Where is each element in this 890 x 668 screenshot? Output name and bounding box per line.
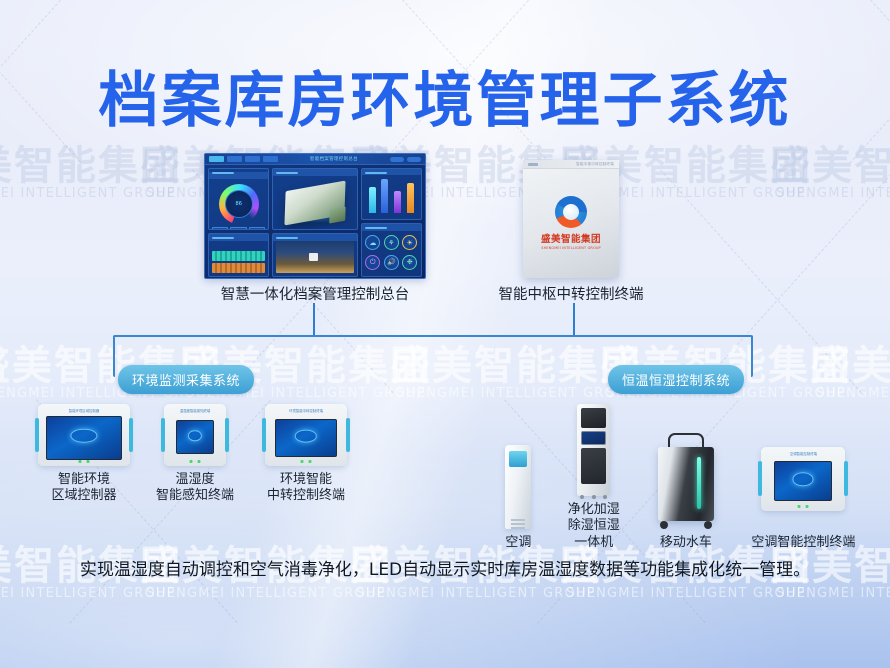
gauge-value: 86 [209, 184, 268, 224]
group-label-climate[interactable]: 恒温恒湿控制系统 [608, 365, 744, 394]
console-screen-body: 86 [205, 165, 425, 279]
stat-card [249, 227, 265, 231]
device-screen [176, 420, 214, 454]
side-tab-icon [346, 418, 350, 453]
air-conditioner-icon[interactable]: ☁ [365, 235, 380, 250]
watermark-en: SHENGMEI INTELLIGENT GROUP [770, 587, 890, 601]
device-row-climate: 空调 净化加湿 除湿恒湿 一体机 移动水车 空调智能控制终端 [488, 396, 870, 551]
hub-header-strip: 智能中枢中转控制终端 [523, 160, 619, 169]
console-controls-panel: ☁ ⚘ ☀ ⏻ 🔊 ❉ [361, 223, 422, 277]
console-device[interactable]: 智能档案管理控制总台 86 [204, 153, 426, 279]
device-art: 环境智能中转控制终端 [265, 404, 347, 466]
device-air-conditioner[interactable]: 空调 [488, 429, 549, 551]
console-tab [263, 156, 278, 162]
water-cart [654, 433, 718, 529]
console-tab [245, 156, 260, 162]
device-art: 智能环境区域控制器 [38, 404, 130, 466]
hub-indicator [528, 163, 538, 166]
led-indicators [798, 505, 809, 508]
device-screen-title: 空调智能控制终端 [761, 451, 845, 456]
watermark: 盛美智能集团SHENGMEI INTELLIGENT GROUP [770, 145, 890, 201]
console-stat-cards [209, 227, 268, 231]
bar-item [407, 183, 414, 213]
archive-room-3d-model-icon [273, 176, 356, 229]
side-tab-icon [758, 461, 762, 497]
console-status-pill [407, 157, 421, 162]
watermark-cn: 盛美智能集团 [0, 145, 182, 187]
wall-panel: 环境智能中转控制终端 [265, 404, 347, 466]
side-tab-icon [262, 418, 266, 453]
device-art [577, 396, 610, 496]
hub-logo: 盛美智能集团 SHENGMEI INTELLIGENT GROUP [541, 196, 601, 250]
group-label-monitor[interactable]: 环境监测采集系统 [118, 365, 254, 394]
console-screen-title: 智能档案管理控制总台 [281, 156, 387, 162]
device-purifier-humidifier[interactable]: 净化加湿 除湿恒湿 一体机 [553, 396, 635, 551]
side-tab-icon [844, 461, 848, 497]
device-art [505, 429, 531, 529]
console-tab-active [209, 156, 224, 162]
watermark-cn: 盛美智能集团 [810, 345, 890, 387]
surveillance-photo [276, 241, 353, 273]
device-ac-control-terminal[interactable]: 空调智能控制终端 空调智能控制终端 [737, 429, 870, 551]
panel-header [273, 169, 356, 176]
side-tab-icon [35, 418, 39, 453]
panel-header [209, 172, 268, 179]
device-screen [774, 461, 832, 501]
bar-item [394, 191, 401, 213]
device-label: 移动水车 [660, 535, 712, 551]
watermark: 盛美智能集团SHENGMEI INTELLIGENT GROUP [810, 345, 890, 401]
bar-item [369, 187, 376, 213]
wall-panel: 智能环境区域控制器 [38, 404, 130, 466]
hub-terminal-device[interactable]: 智能中枢中转控制终端 盛美智能集团 SHENGMEI INTELLIGENT G… [523, 160, 619, 278]
fan-icon[interactable]: ❉ [402, 255, 417, 270]
watermark-en: SHENGMEI INTELLIGENT GROUP [770, 187, 890, 201]
watermark-cn: 盛美智能集团 [770, 145, 890, 187]
device-label: 环境智能 中转控制终端 [267, 472, 345, 505]
device-label: 空调智能控制终端 [751, 535, 855, 551]
purifier-display [581, 431, 606, 445]
device-art: 温湿度智能感知终端 [164, 404, 226, 466]
panel-header [273, 234, 356, 241]
device-label: 温湿度 智能感知终端 [156, 472, 234, 505]
device-screen [275, 419, 337, 457]
console-bars-panel [361, 168, 422, 220]
device-area-controller[interactable]: 智能环境区域控制器 智能环境 区域控制器 [30, 404, 138, 505]
device-screen-title: 温湿度智能感知终端 [164, 408, 226, 413]
device-row-monitor: 智能环境区域控制器 智能环境 区域控制器 温湿度智能感知终端 温湿度 智能感知终… [30, 404, 360, 505]
watermark-en: SHENGMEI INTELLIGENT GROUP [350, 587, 602, 601]
led-indicators [190, 460, 201, 463]
hub-logo-cn: 盛美智能集团 [541, 231, 601, 245]
purifier-casters [580, 495, 607, 499]
watermark: 盛美智能集团SHENGMEI INTELLIGENT GROUP [0, 145, 182, 201]
purifier-top-module [581, 408, 606, 428]
hub-logo-en: SHENGMEI INTELLIGENT GROUP [541, 246, 601, 250]
cart-body [658, 447, 714, 521]
hub-caption: 智能中枢中转控制终端 [480, 283, 662, 304]
led-indicators [78, 460, 89, 463]
connector-console-to-bracket [313, 303, 315, 335]
watermark-en: SHENGMEI INTELLIGENT GROUP [560, 587, 812, 601]
console-gauge-panel: 86 [208, 168, 269, 230]
bar-item [381, 179, 388, 213]
console-left-column: 86 [208, 168, 269, 277]
cart-wheels [660, 521, 712, 529]
console-status-pill [390, 157, 404, 162]
device-temp-humidity-sensor[interactable]: 温湿度智能感知终端 温湿度 智能感知终端 [144, 404, 246, 505]
console-tab [227, 156, 242, 162]
led-indicators [301, 460, 312, 463]
console-screen: 智能档案管理控制总台 86 [204, 153, 426, 279]
purifier-lower-module [581, 448, 606, 484]
console-trend-panel [208, 233, 269, 277]
console-icon-grid: ☁ ⚘ ☀ ⏻ 🔊 ❉ [362, 231, 421, 276]
purifier-cabinet [577, 404, 610, 496]
device-label: 智能环境 区域控制器 [51, 472, 116, 505]
alarm-icon[interactable]: 🔊 [384, 255, 399, 270]
page-title: 档案库房环境管理子系统 [0, 52, 890, 139]
bar-chart [362, 175, 421, 219]
side-tab-icon [129, 418, 133, 453]
console-video-panel [272, 233, 357, 277]
humidity-icon[interactable]: ⚘ [384, 235, 399, 250]
watermark-en: SHENGMEI INTELLIGENT GROUP [0, 587, 182, 601]
device-art [654, 429, 718, 529]
side-tab-icon [225, 418, 229, 453]
device-label: 空调 [505, 535, 531, 551]
air-conditioner-cabinet [505, 445, 531, 529]
device-mobile-water-cart[interactable]: 移动水车 [639, 429, 733, 551]
device-screen [46, 416, 122, 460]
console-model-panel [272, 168, 357, 230]
device-screen-title: 智能环境区域控制器 [38, 408, 130, 413]
panel-header [362, 224, 421, 231]
trend-band-temperature [212, 251, 265, 261]
console-center-column [272, 168, 357, 277]
console-right-column: ☁ ⚘ ☀ ⏻ 🔊 ❉ [361, 168, 422, 277]
stat-card [230, 227, 246, 231]
stat-card [212, 227, 228, 231]
console-caption: 智慧一体化档案管理控制总台 [204, 283, 426, 304]
console-topbar-right [390, 157, 421, 162]
watermark-en: SHENGMEI INTELLIGENT GROUP [0, 187, 182, 201]
panel-header [209, 234, 268, 241]
device-art: 空调智能控制终端 [761, 429, 845, 529]
hub-header-label: 智能中枢中转控制终端 [576, 162, 614, 167]
footer-caption: 实现温湿度自动调控和空气消毒净化，LED自动显示实时库房温湿度数据等功能集成化统… [70, 558, 820, 584]
side-tab-icon [161, 418, 165, 453]
power-icon[interactable]: ⏻ [365, 255, 380, 270]
trend-chart [209, 241, 268, 276]
watermark-en: SHENGMEI INTELLIGENT GROUP [140, 587, 392, 601]
lighting-icon[interactable]: ☀ [402, 235, 417, 250]
trend-band-humidity [212, 263, 265, 273]
wall-panel: 空调智能控制终端 [761, 447, 845, 511]
console-screen-topbar: 智能档案管理控制总台 [205, 154, 425, 165]
device-label: 净化加湿 除湿恒湿 一体机 [568, 502, 620, 551]
device-screen-title: 环境智能中转控制终端 [265, 408, 347, 413]
wall-panel: 温湿度智能感知终端 [164, 404, 226, 466]
company-swirl-logo-icon [555, 196, 587, 228]
device-relay-controller[interactable]: 环境智能中转控制终端 环境智能 中转控制终端 [252, 404, 360, 505]
connector-hub-to-bracket [573, 303, 575, 335]
model-building [284, 180, 345, 225]
